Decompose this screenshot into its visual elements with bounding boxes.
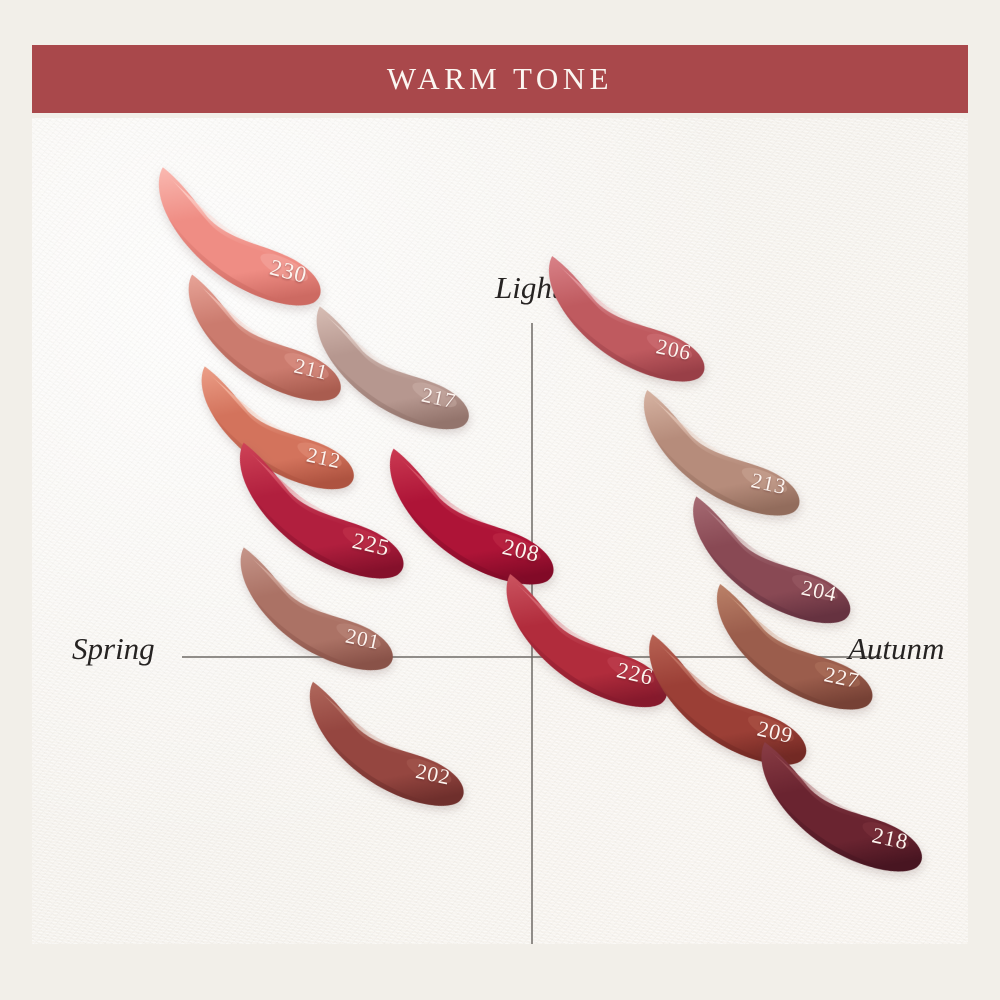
smear-shape xyxy=(285,675,489,816)
lipstick-shade-chart-page: WARM TONE Light Dark Spring Autunm 23021… xyxy=(0,0,1000,1000)
smear-shape xyxy=(736,735,948,882)
axis-label-spring: Spring xyxy=(72,631,155,667)
smear-shape xyxy=(524,249,730,391)
header-banner: WARM TONE xyxy=(32,45,968,113)
shade-swatch-218[interactable]: 218 xyxy=(736,735,948,882)
shade-swatch-202[interactable]: 202 xyxy=(285,675,489,816)
shade-swatch-206[interactable]: 206 xyxy=(524,249,730,391)
chart-canvas: Light Dark Spring Autunm 230211217212206… xyxy=(32,118,968,944)
page-title: WARM TONE xyxy=(387,61,613,97)
